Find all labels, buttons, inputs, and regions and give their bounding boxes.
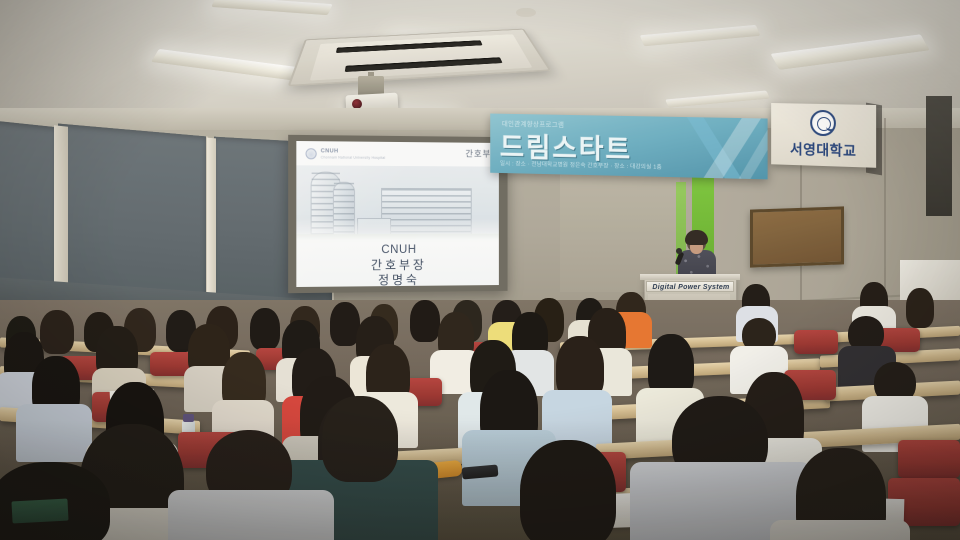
- audience-person: [520, 440, 616, 540]
- audience-person: [770, 520, 910, 540]
- slide-header: CNUH Chonnam National University Hospita…: [296, 141, 499, 167]
- audience-person: [16, 404, 92, 462]
- projection-screen: CNUH Chonnam National University Hospita…: [288, 135, 507, 293]
- cnuh-logo-text: CNUH: [321, 148, 339, 154]
- slide-line-1: CNUH: [296, 243, 499, 259]
- slide-title-block: CNUH 간호부장 정명숙: [296, 242, 499, 287]
- audience-person: [906, 288, 934, 328]
- chair: [898, 440, 960, 478]
- lecture-hall-photo: CNUH Chonnam National University Hospita…: [0, 0, 960, 540]
- university-sign: 서영대학교: [771, 103, 876, 168]
- cork-bulletin-board: [750, 206, 844, 267]
- crest-smile: [825, 126, 834, 131]
- wall-dark-panel: [926, 96, 952, 216]
- slide-line-2: 간호부장: [296, 257, 499, 273]
- cnuh-logo-subtext: Chonnam National University Hospital: [321, 155, 386, 160]
- microphone-head: [676, 248, 682, 254]
- audience-person: [40, 310, 74, 354]
- slide-photo: [296, 165, 499, 246]
- cnuh-logo-icon: [306, 148, 317, 159]
- audience-person: [410, 300, 440, 342]
- crest-inner-ring: [817, 117, 831, 131]
- podium-nameplate: Digital Power System: [646, 281, 734, 292]
- slide-department-label: 간호부: [465, 148, 491, 160]
- podium-top: [640, 274, 740, 280]
- speaker-hair: [685, 230, 708, 245]
- university-crest-icon: [810, 110, 836, 137]
- smoke-detector-icon: [516, 8, 536, 17]
- audience-person: [250, 308, 280, 350]
- chair: [794, 330, 838, 354]
- audience-person: [168, 490, 334, 540]
- event-banner: 대인관계향상프로그램 드림스타트 일시 : 장소 · 전남대학교병원 정은숙 간…: [490, 114, 767, 180]
- podium-brand-text: Digital Power System: [647, 282, 735, 293]
- banner-subtitle: 일시 : 장소 · 전남대학교병원 정은숙 간호부장 · 장소 : 대강의실 1…: [500, 159, 662, 171]
- slide-line-3: 정명숙: [296, 272, 499, 287]
- bottle-cap: [183, 414, 194, 422]
- slide-surface: CNUH Chonnam National University Hospita…: [296, 141, 499, 287]
- green-notebook: [11, 499, 68, 524]
- audience-person-hair: [322, 396, 398, 482]
- university-name: 서영대학교: [771, 139, 876, 162]
